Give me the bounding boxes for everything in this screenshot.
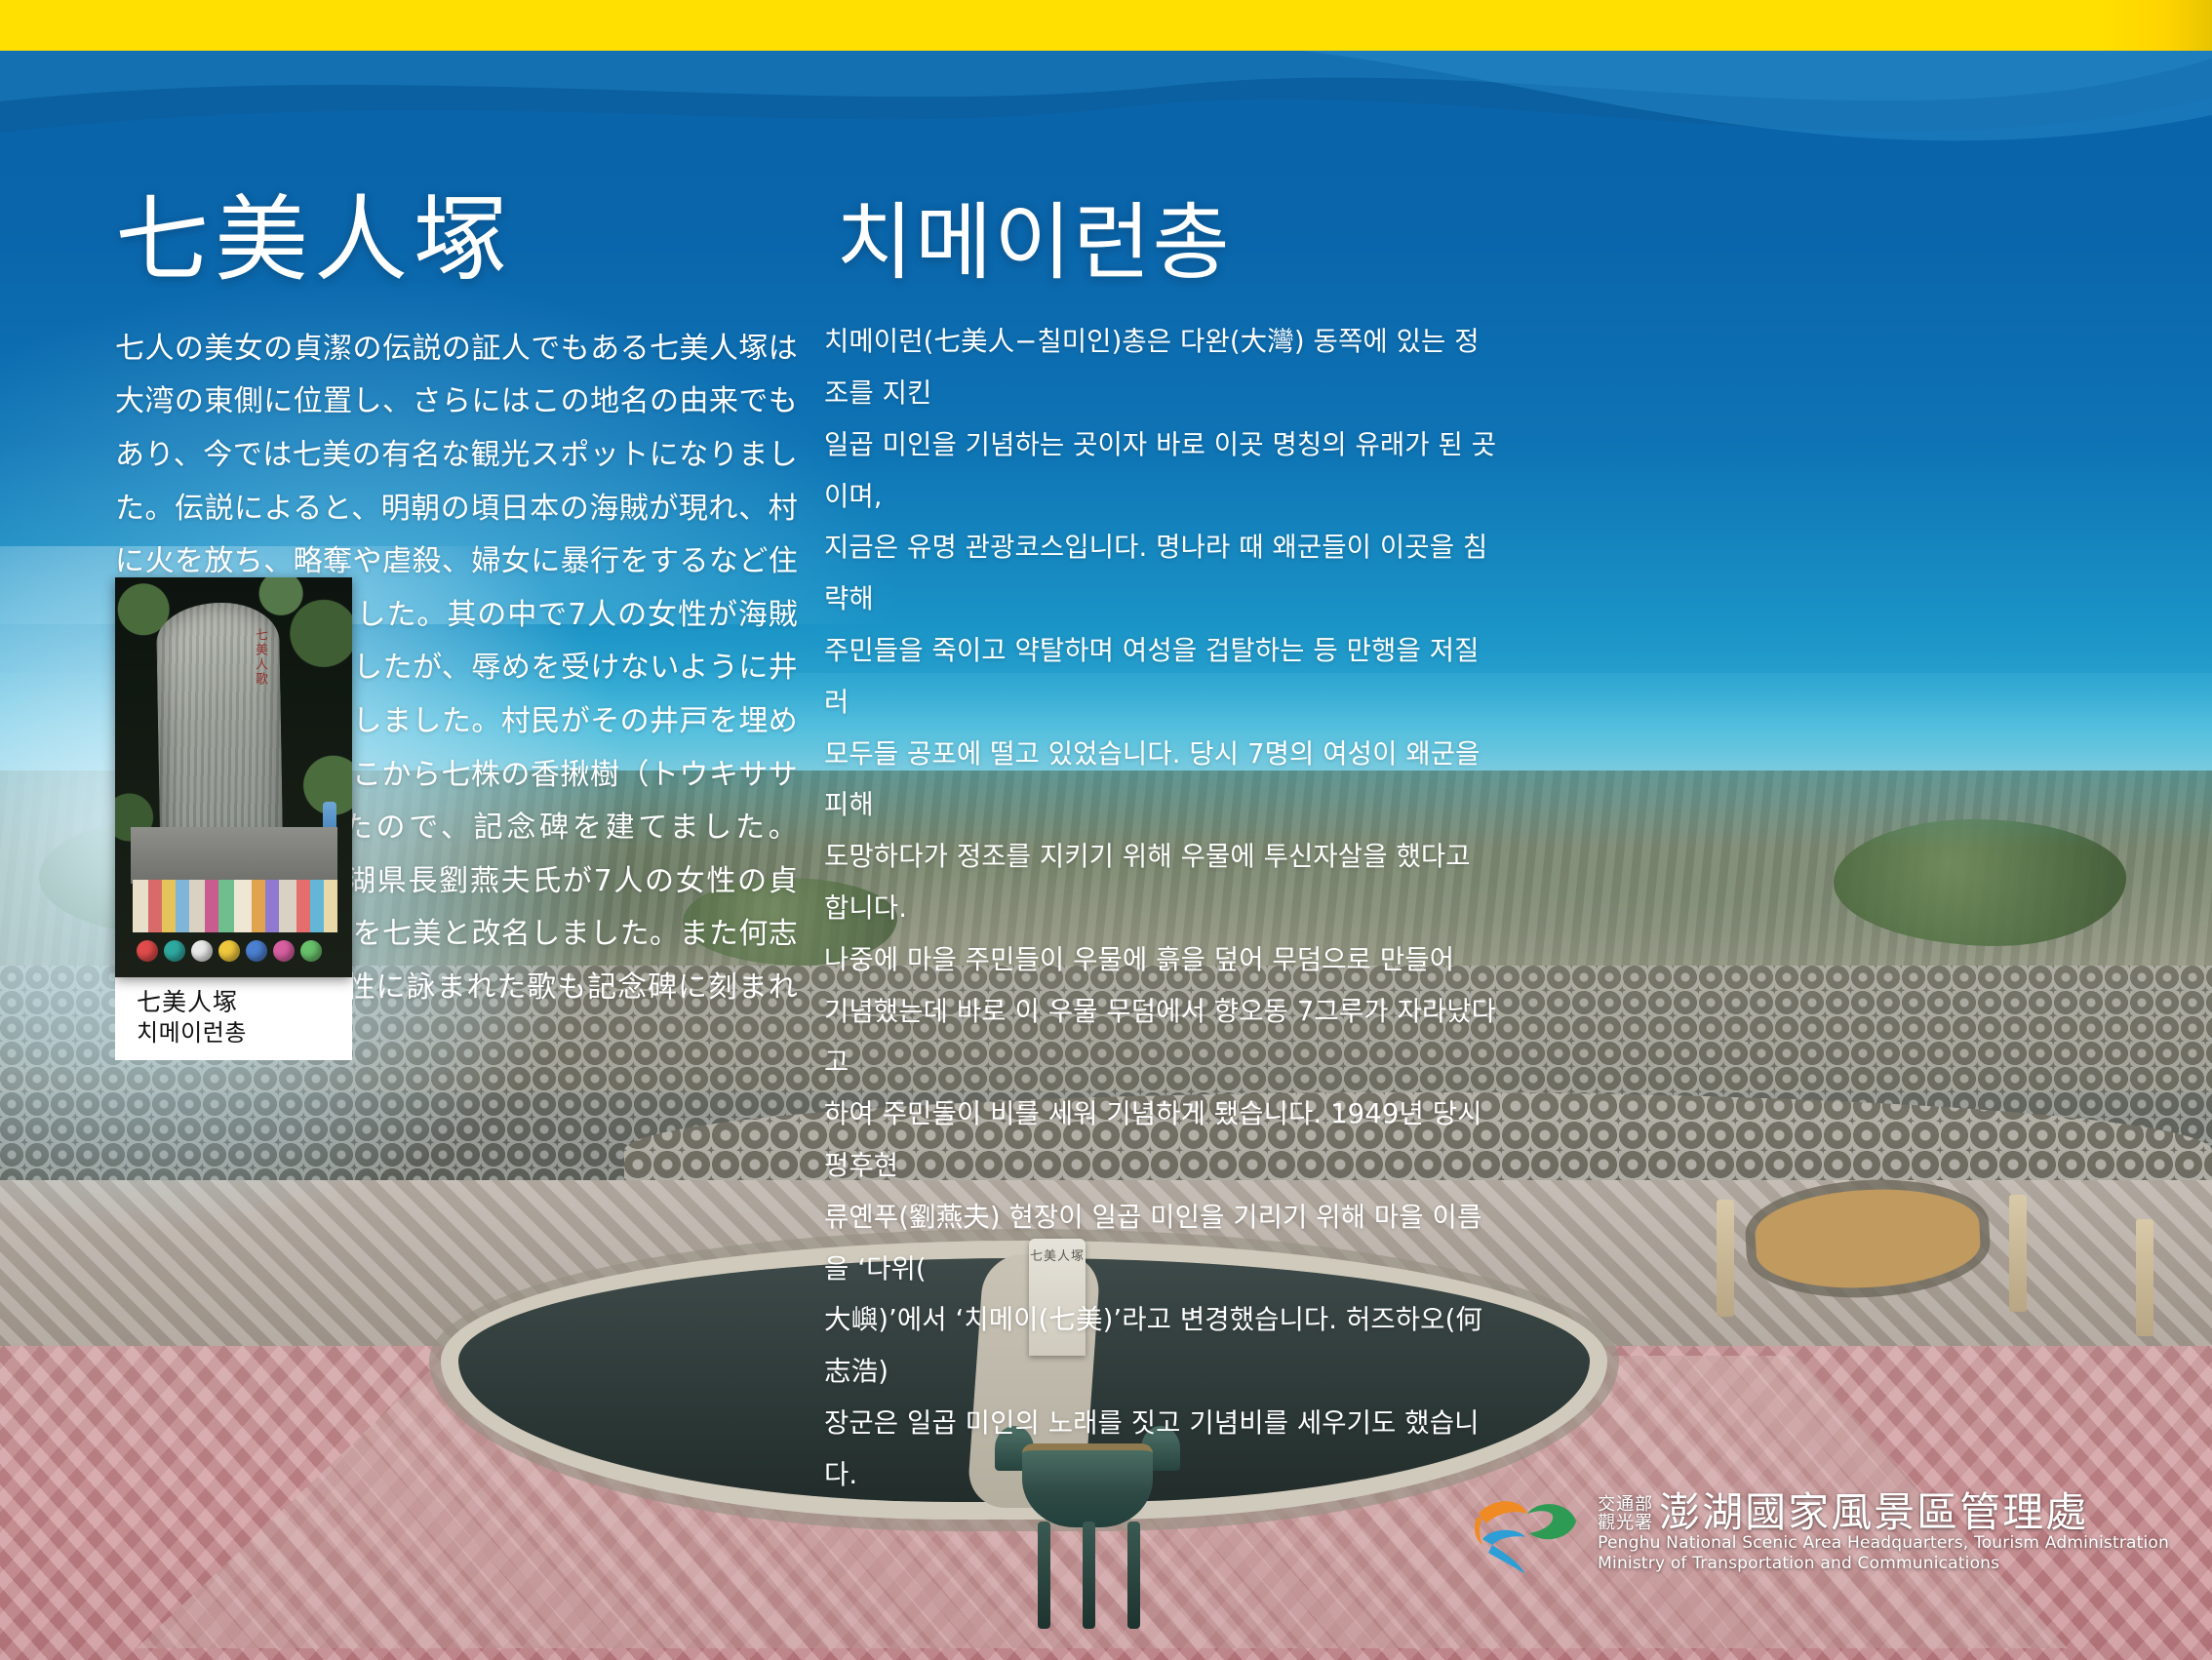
stone-stele-photo: 七美人歌 xyxy=(115,577,352,977)
photo-ball xyxy=(218,940,240,962)
photo-altar-table xyxy=(131,827,337,884)
korean-line: 장군은 일곱 미인의 노래를 짓고 기념비를 세우기도 했습니다. xyxy=(824,1398,1497,1501)
organization-logo: 交通部 觀光署 澎湖國家風景區管理處 Penghu National Sceni… xyxy=(1469,1488,2169,1578)
photo-block: 七美人歌 七美人塚 치메이런총 xyxy=(115,577,352,1060)
organization-name-chinese: 澎湖國家風景區管理處 xyxy=(1659,1492,2088,1533)
photo-caption: 七美人塚 치메이런총 xyxy=(115,977,352,1060)
korean-line: 하여 주민들이 비를 세워 기념하게 됐습니다. 1949년 당시 펑후현 xyxy=(824,1088,1497,1192)
korean-body: 치메이런(七美人−칠미인)총은 다완(大灣) 동쪽에 있는 정조를 지킨 일곱 … xyxy=(824,316,1497,1500)
korean-line: 류옌푸(劉燕夫) 현장이 일곱 미인을 기리기 위해 마을 이름을 ‘다위( xyxy=(824,1192,1497,1295)
korean-line: 도망하다가 정조를 지키기 위해 우물에 투신자살을 했다고 합니다. xyxy=(824,831,1497,934)
korean-line: 지금은 유명 관광코스입니다. 명나라 때 왜군들이 이곳을 침략해 xyxy=(824,522,1497,625)
top-accent-bar xyxy=(0,0,2212,51)
photo-stele-inscription: 七美人歌 xyxy=(170,628,267,813)
scene-rail-post xyxy=(2136,1219,2153,1336)
photo-ball xyxy=(164,940,185,962)
korean-title: 치메이런총 xyxy=(824,199,1497,287)
ministry-line-1: 交通部 xyxy=(1598,1495,1653,1514)
ministry-line-2: 觀光署 xyxy=(1598,1514,1653,1532)
japanese-title: 七美人塚 xyxy=(115,191,798,290)
korean-line: 大嶼)’에서 ‘치메이(七美)’라고 변경했습니다. 허즈하오(何志浩) xyxy=(824,1294,1497,1398)
information-board: 七美人塚 七美人塚 七人の美女の貞潔の伝説の証人でもある七美人塚は大湾の東側に位… xyxy=(0,0,2212,1660)
organization-logo-text: 交通部 觀光署 澎湖國家風景區管理處 Penghu National Sceni… xyxy=(1598,1492,2169,1575)
photo-ball xyxy=(246,940,267,962)
organization-name-english-line-1: Penghu National Scenic Area Headquarters… xyxy=(1598,1533,2169,1554)
korean-line: 모두들 공포에 떨고 있었습니다. 당시 7명의 여성이 왜군을 피해 xyxy=(824,729,1497,832)
photo-offerings xyxy=(133,880,337,932)
photo-ball xyxy=(273,940,295,962)
photo-ball xyxy=(191,940,213,962)
scene-rail-post xyxy=(2009,1195,2027,1312)
ministry-lines: 交通部 觀光署 xyxy=(1598,1495,1653,1533)
photo-ball xyxy=(300,940,322,962)
organization-logo-chinese-row: 交通部 觀光署 澎湖國家風景區管理處 xyxy=(1598,1492,2169,1533)
photo-colored-balls xyxy=(133,934,337,962)
censer-leg xyxy=(1038,1522,1050,1629)
photo-caption-korean: 치메이런총 xyxy=(137,1018,338,1048)
photo-ball xyxy=(137,940,158,962)
tourism-bureau-logo-icon xyxy=(1469,1488,1586,1578)
top-accent-bar-gradient xyxy=(2095,0,2212,51)
photo-caption-japanese: 七美人塚 xyxy=(137,987,338,1018)
korean-line: 나중에 마을 주민들이 우물에 흙을 덮어 무덤으로 만들어 xyxy=(824,934,1497,986)
organization-name-english-line-2: Ministry of Transportation and Communica… xyxy=(1598,1554,2169,1574)
censer-leg xyxy=(1127,1522,1140,1629)
korean-line: 치메이런(七美人−칠미인)총은 다완(大灣) 동쪽에 있는 정조를 지킨 xyxy=(824,316,1497,419)
censer-leg xyxy=(1083,1522,1095,1629)
korean-column: 치메이런총 치메이런(七美人−칠미인)총은 다완(大灣) 동쪽에 있는 정조를 … xyxy=(824,191,1497,1501)
scene-rail-post xyxy=(1717,1200,1734,1317)
korean-line: 기념했는데 바로 이 우물 무덤에서 향오동 7그루가 자라났다고 xyxy=(824,986,1497,1089)
korean-line: 일곱 미인을 기념하는 곳이자 바로 이곳 명칭의 유래가 된 곳이며, xyxy=(824,419,1497,523)
korean-line: 주민들을 죽이고 약탈하며 여성을 겁탈하는 등 만행을 저질러 xyxy=(824,625,1497,729)
